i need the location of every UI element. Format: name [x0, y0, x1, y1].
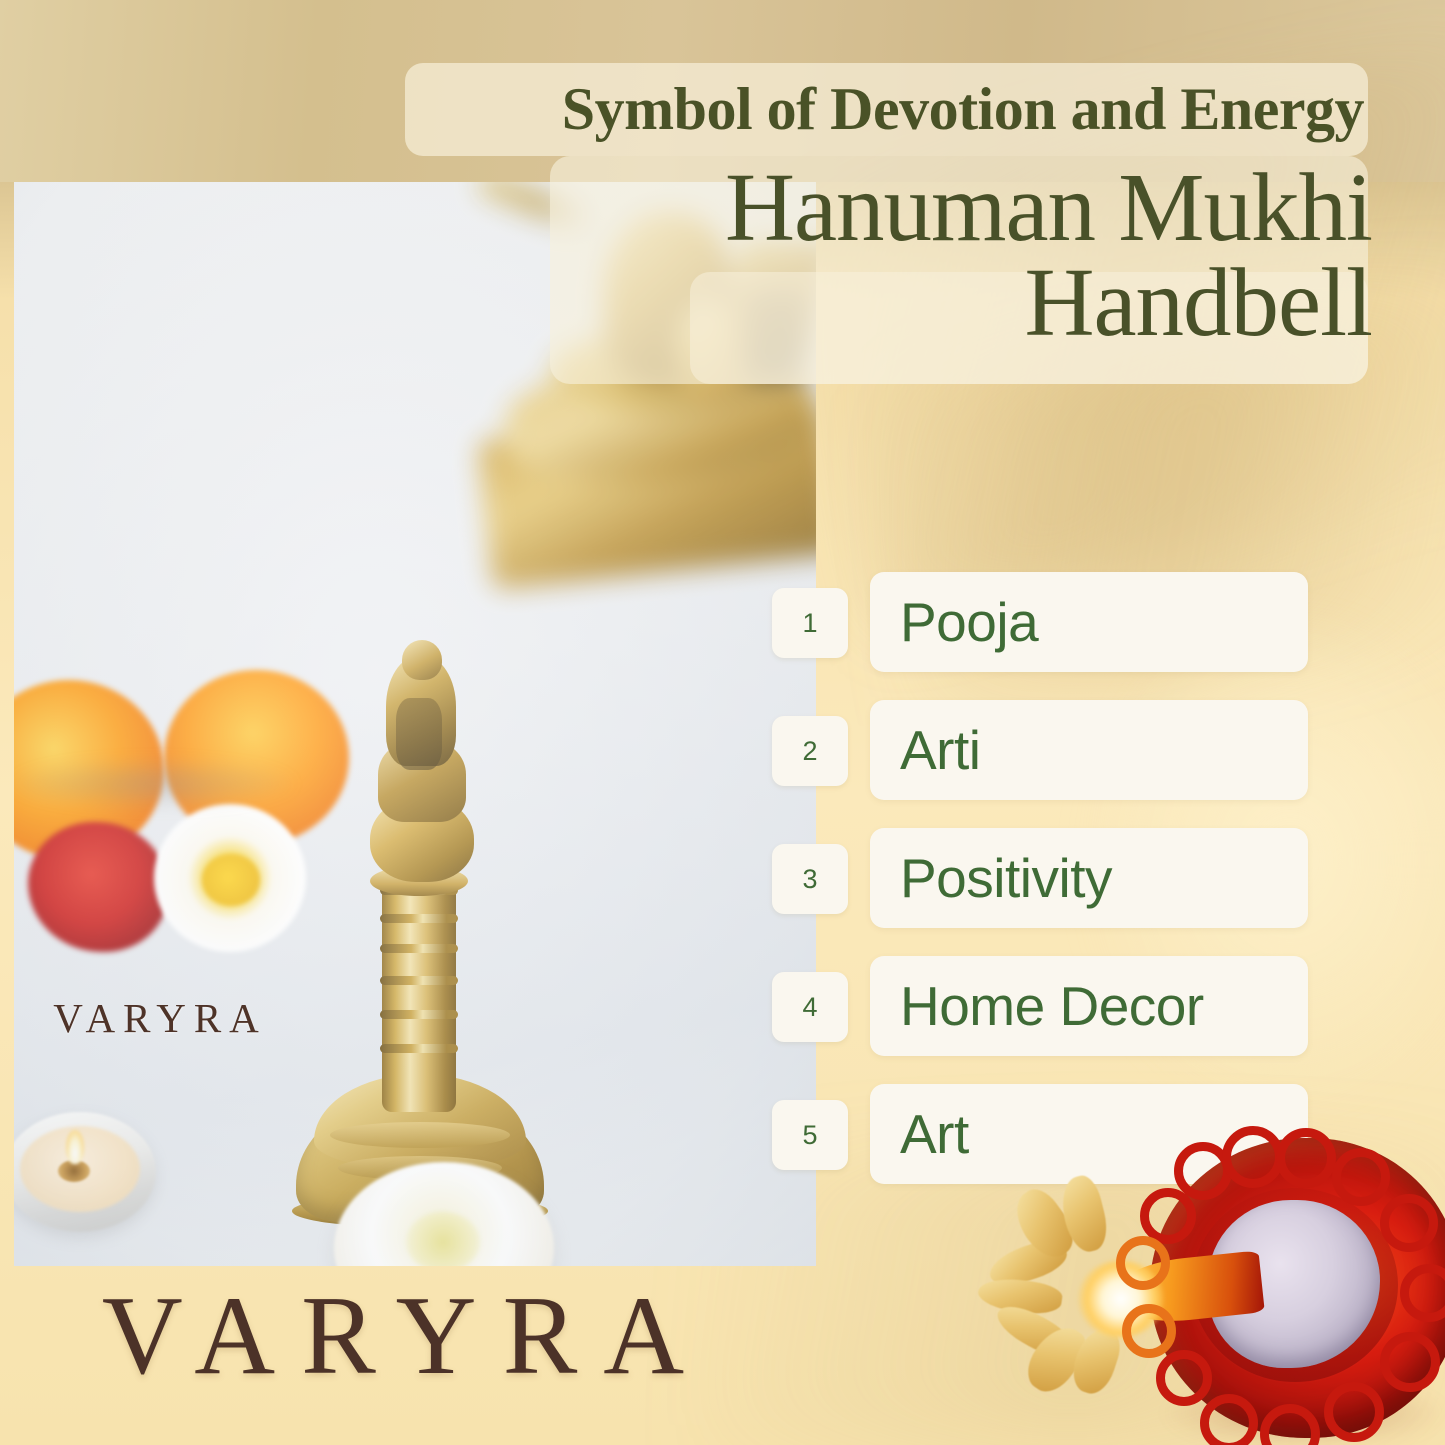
page-title: Hanuman Mukhi Handbell: [540, 160, 1372, 350]
feature-label: Home Decor: [870, 956, 1308, 1056]
diya-swirl-11: [1156, 1350, 1212, 1406]
diya-swirl-3: [1276, 1128, 1336, 1188]
feature-label: Positivity: [870, 828, 1308, 928]
brand-wordmark: VARYRA: [0, 1272, 812, 1401]
feature-item[interactable]: 3 Positivity: [772, 828, 1312, 928]
title-line-2: Handbell: [540, 255, 1372, 350]
headline: Symbol of Devotion and Energy: [405, 63, 1368, 156]
diya-swirl-10: [1200, 1394, 1258, 1445]
feature-item[interactable]: 4 Home Decor: [772, 956, 1312, 1056]
feature-number-badge: 5: [772, 1100, 848, 1170]
title-line-1: Hanuman Mukhi: [725, 154, 1372, 261]
diya-swirl-2: [1222, 1126, 1284, 1188]
diya-swirl-7: [1380, 1332, 1440, 1392]
poster-canvas: VARYRA Symbol of Devotion and Energy Han…: [0, 0, 1445, 1445]
feature-number-badge: 2: [772, 716, 848, 786]
diya-swirl-8: [1324, 1382, 1384, 1442]
feature-item[interactable]: 1 Pooja: [772, 572, 1312, 672]
diya-swirl-14: [1116, 1236, 1170, 1290]
feature-label: Arti: [870, 700, 1308, 800]
diya-swirl-13: [1122, 1304, 1176, 1358]
diya-swirl-5: [1380, 1194, 1438, 1252]
feature-number-badge: 1: [772, 588, 848, 658]
feature-list: 1 Pooja 2 Arti 3 Positivity 4 Home Decor…: [772, 572, 1312, 1212]
diya-lamp-icon: [960, 1128, 1445, 1445]
photo-watermark: VARYRA: [30, 994, 290, 1042]
feature-number-badge: 4: [772, 972, 848, 1042]
feature-number-badge: 3: [772, 844, 848, 914]
feature-item[interactable]: 2 Arti: [772, 700, 1312, 800]
feature-label: Pooja: [870, 572, 1308, 672]
diya-swirl-4: [1332, 1148, 1390, 1206]
